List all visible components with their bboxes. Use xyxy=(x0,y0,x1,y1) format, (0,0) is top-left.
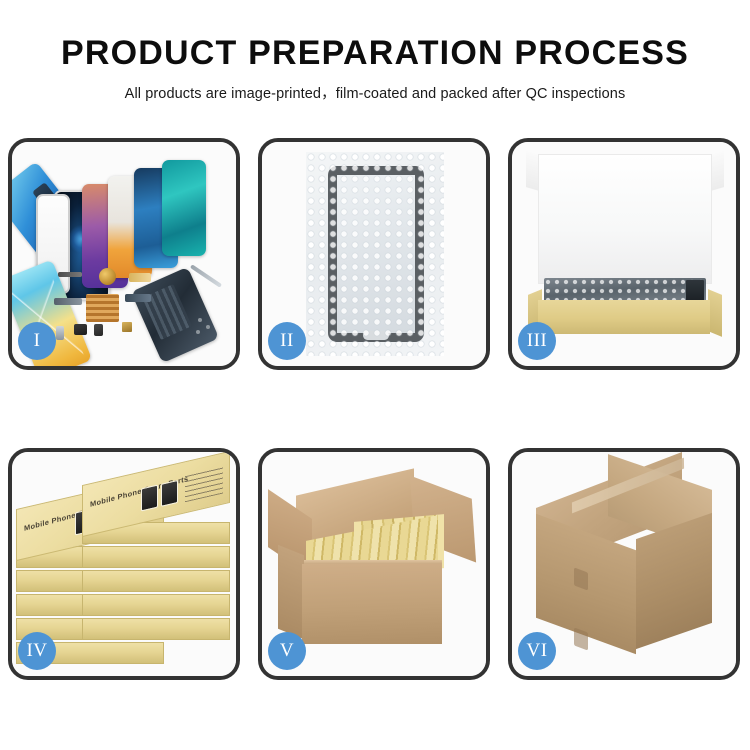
part-camera-module-icon xyxy=(94,324,103,336)
step-badge-5: V xyxy=(268,632,306,670)
box-artwork-phone-icon xyxy=(141,485,158,512)
part-speaker-icon xyxy=(74,324,87,335)
kraft-box-front-icon xyxy=(538,300,710,334)
page-header: PRODUCT PREPARATION PROCESS All products… xyxy=(0,0,750,103)
part-speaker-coil-icon xyxy=(99,268,116,285)
process-step-grid: I II III xyxy=(8,138,742,688)
part-sim-tray-icon xyxy=(56,326,64,340)
box-side-right-icon xyxy=(708,289,722,337)
process-step-6: VI xyxy=(508,448,740,680)
part-flex-cable-dark-icon xyxy=(125,294,151,302)
step-badge-3: III xyxy=(518,322,556,360)
foam-padding-icon xyxy=(538,154,712,284)
carton-seam-icon xyxy=(574,627,588,650)
step-badge-2: II xyxy=(268,322,306,360)
box-spec-lines-icon xyxy=(185,466,223,503)
part-screw-icon xyxy=(198,318,202,322)
step-badge-1: I xyxy=(18,322,56,360)
stacked-box-icon xyxy=(82,618,230,640)
process-step-4: Mobile Phone Spare Parts Mobile Phone Sp… xyxy=(8,448,240,680)
phone-screen-teal-icon xyxy=(162,160,206,256)
page-title: PRODUCT PREPARATION PROCESS xyxy=(0,0,750,72)
step-badge-4: IV xyxy=(18,632,56,670)
process-step-3: III xyxy=(508,138,740,370)
stacked-box-icon xyxy=(82,594,230,616)
process-step-1: I xyxy=(8,138,240,370)
carton-front-icon xyxy=(302,564,442,644)
phone-front-glass-icon xyxy=(328,166,424,342)
box-artwork-phone-icon xyxy=(161,480,178,507)
part-screw-icon xyxy=(196,330,200,334)
bubble-wrap-sheet-icon xyxy=(306,152,444,356)
part-chip-icon xyxy=(122,322,132,332)
step-badge-6: VI xyxy=(518,632,556,670)
carton-side-icon xyxy=(278,545,304,640)
stacked-box-icon xyxy=(82,546,230,568)
part-antenna-strip-icon xyxy=(58,272,82,277)
part-flex-cable-gold-icon xyxy=(129,273,151,282)
part-screw-icon xyxy=(206,325,210,329)
page-subtitle: All products are image-printed，film-coat… xyxy=(0,72,750,103)
part-flex-cable-grey-icon xyxy=(54,298,82,305)
stacked-box-icon xyxy=(82,570,230,592)
carton-face-right-icon xyxy=(636,513,712,649)
process-step-5: V xyxy=(258,448,490,680)
process-step-2: II xyxy=(258,138,490,370)
part-shield-mesh-icon xyxy=(86,294,119,322)
